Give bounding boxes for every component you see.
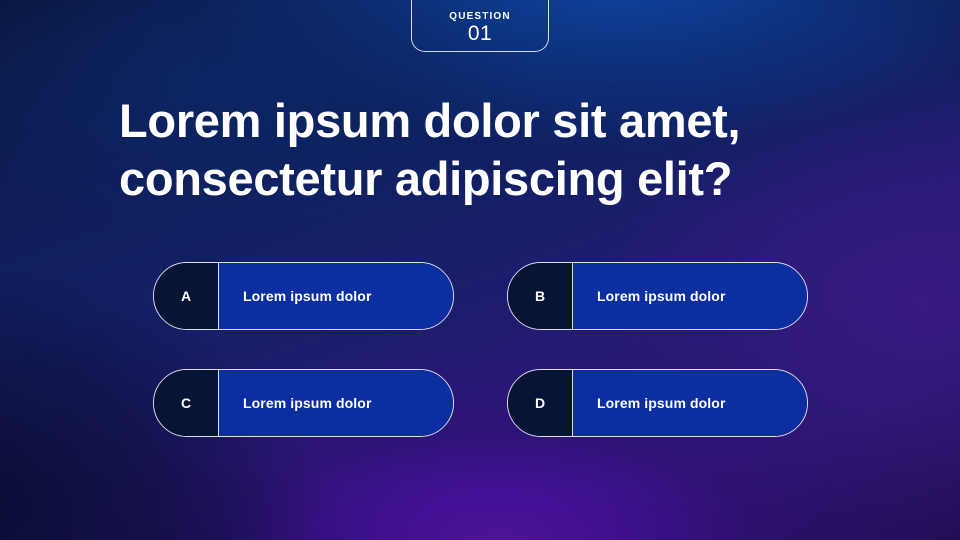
answer-option-d-letter: D — [508, 370, 573, 436]
answer-option-b-text: Lorem ipsum dolor — [573, 263, 807, 329]
quiz-slide: QUESTION 01 Lorem ipsum dolor sit amet, … — [0, 0, 960, 540]
answer-option-d[interactable]: D Lorem ipsum dolor — [507, 369, 808, 437]
answer-option-c[interactable]: C Lorem ipsum dolor — [153, 369, 454, 437]
question-label: QUESTION — [449, 12, 510, 22]
question-number: 01 — [468, 22, 492, 46]
answer-option-c-letter: C — [154, 370, 219, 436]
answer-option-a-letter: A — [154, 263, 219, 329]
answer-option-c-text: Lorem ipsum dolor — [219, 370, 453, 436]
question-title: Lorem ipsum dolor sit amet, consectetur … — [119, 92, 879, 208]
answer-option-a-text: Lorem ipsum dolor — [219, 263, 453, 329]
answer-options-grid: A Lorem ipsum dolor B Lorem ipsum dolor … — [153, 262, 810, 437]
answer-option-d-text: Lorem ipsum dolor — [573, 370, 807, 436]
answer-option-a[interactable]: A Lorem ipsum dolor — [153, 262, 454, 330]
answer-option-b[interactable]: B Lorem ipsum dolor — [507, 262, 808, 330]
answer-option-b-letter: B — [508, 263, 573, 329]
question-number-badge: QUESTION 01 — [411, 0, 549, 52]
